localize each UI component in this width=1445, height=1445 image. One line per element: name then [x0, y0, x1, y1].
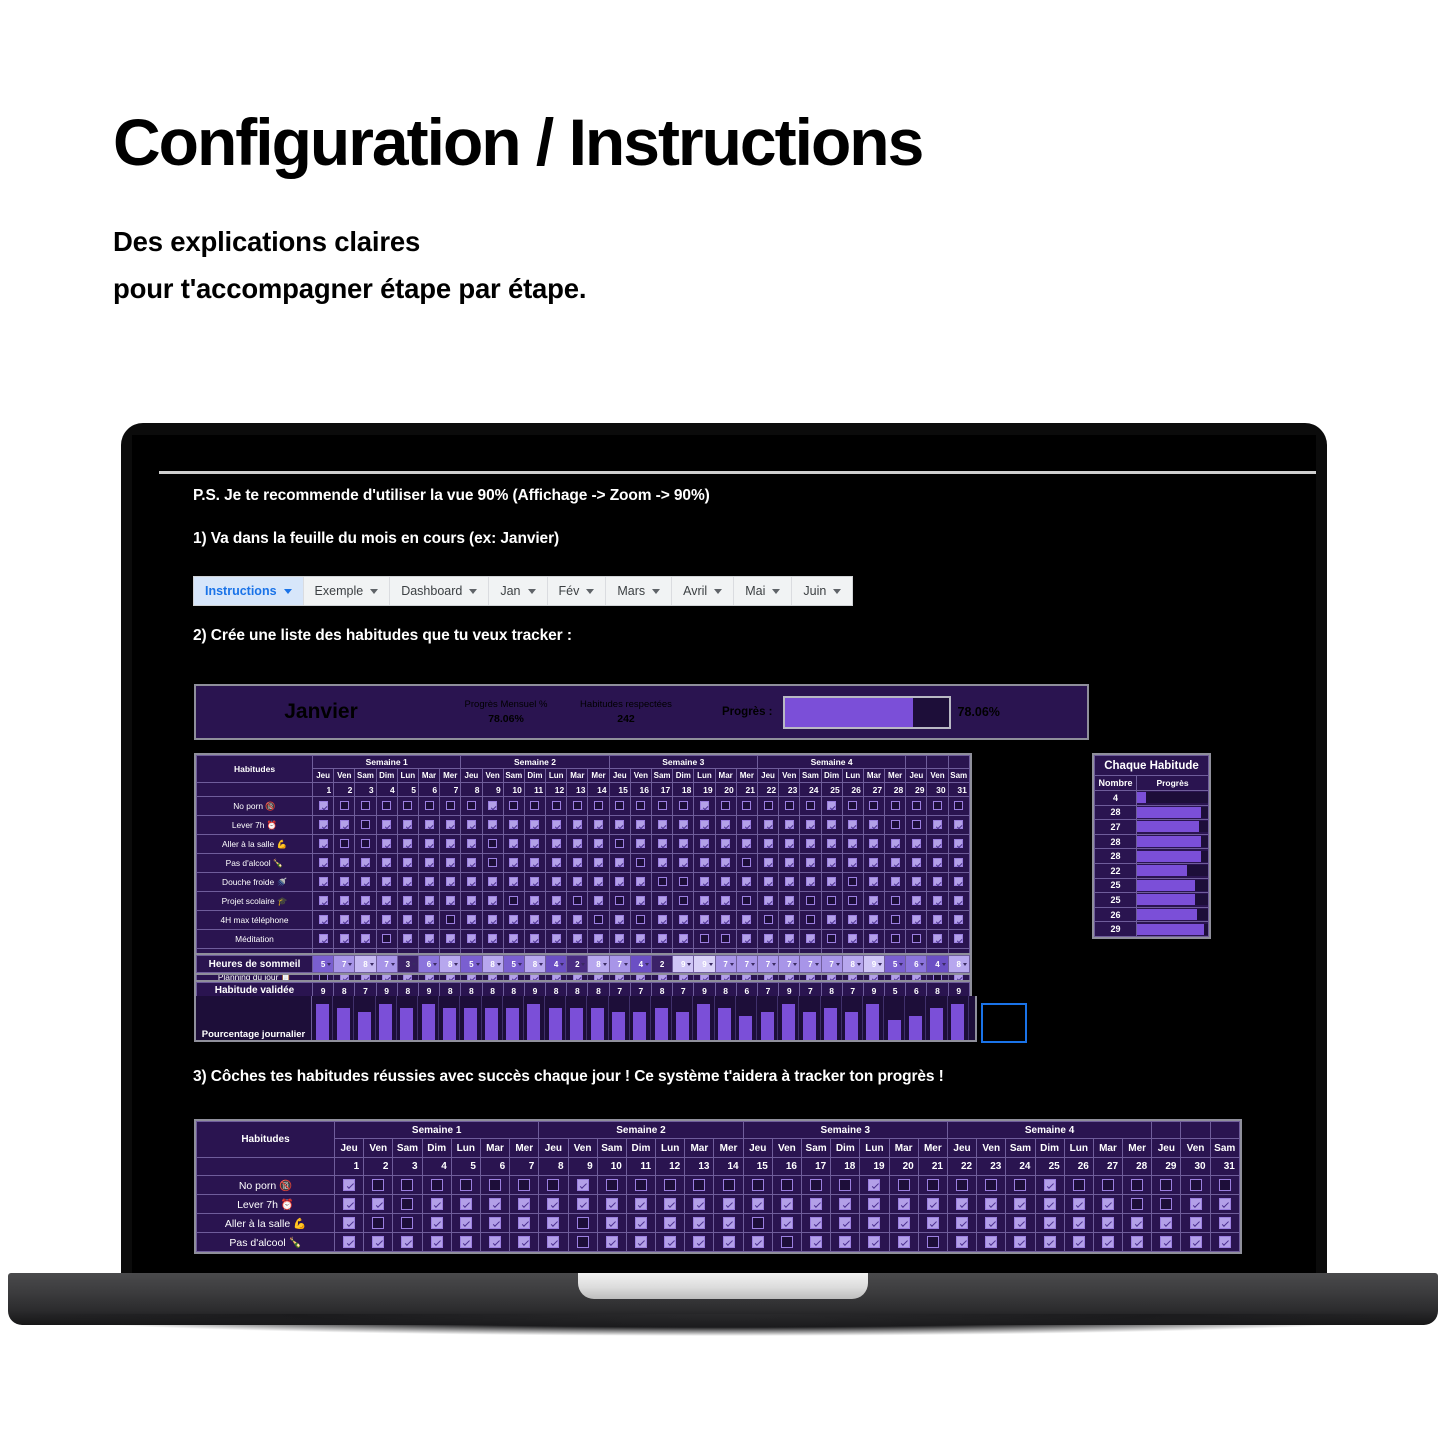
checkbox-icon[interactable]: [891, 858, 900, 867]
habit-cell[interactable]: [567, 911, 588, 930]
checkbox-icon[interactable]: [806, 801, 815, 810]
checkbox-icon[interactable]: [781, 1217, 793, 1229]
habit-cell[interactable]: [597, 1214, 626, 1233]
checkbox-icon[interactable]: [721, 858, 730, 867]
checkbox-icon[interactable]: [891, 877, 900, 886]
habit-cell[interactable]: [568, 1233, 597, 1252]
checkbox-icon[interactable]: [1190, 1217, 1202, 1229]
habit-cell[interactable]: [482, 873, 503, 892]
habit-cell[interactable]: [1006, 1176, 1035, 1195]
checkbox-icon[interactable]: [891, 839, 900, 848]
habit-cell[interactable]: [418, 873, 439, 892]
checkbox-icon[interactable]: [764, 820, 773, 829]
checkbox-icon[interactable]: [1073, 1198, 1085, 1210]
checkbox-icon[interactable]: [785, 801, 794, 810]
habit-cell[interactable]: [1210, 1195, 1239, 1214]
habit-cell[interactable]: [609, 873, 630, 892]
checkbox-icon[interactable]: [509, 801, 518, 810]
checkbox-icon[interactable]: [606, 1236, 618, 1248]
checkbox-icon[interactable]: [848, 801, 857, 810]
checkbox-icon[interactable]: [577, 1198, 589, 1210]
habit-cell[interactable]: [772, 1233, 801, 1252]
habit-cell[interactable]: [821, 892, 842, 911]
habit-cell[interactable]: [1152, 1233, 1181, 1252]
habit-cell[interactable]: [779, 930, 800, 949]
habit-cell[interactable]: [1064, 1233, 1093, 1252]
habit-cell[interactable]: [1210, 1214, 1239, 1233]
checkbox-icon[interactable]: [382, 801, 391, 810]
checkbox-icon[interactable]: [460, 1217, 472, 1229]
checkbox-icon[interactable]: [1219, 1236, 1231, 1248]
habit-cell[interactable]: [927, 873, 948, 892]
habit-cell[interactable]: [842, 854, 863, 873]
chevron-down-icon[interactable]: [751, 963, 755, 966]
habit-cell[interactable]: [597, 1233, 626, 1252]
sleep-hours-dropdown[interactable]: 7: [821, 956, 842, 973]
habit-cell[interactable]: [918, 1195, 947, 1214]
habit-cell[interactable]: [906, 892, 927, 911]
habit-cell[interactable]: [376, 911, 397, 930]
checkbox-icon[interactable]: [635, 1198, 647, 1210]
checkbox-icon[interactable]: [547, 1198, 559, 1210]
checkbox-icon[interactable]: [552, 858, 561, 867]
habit-cell[interactable]: [546, 797, 567, 816]
chevron-down-icon[interactable]: [645, 963, 649, 966]
checkbox-icon[interactable]: [869, 915, 878, 924]
checkbox-icon[interactable]: [530, 896, 539, 905]
checkbox-icon[interactable]: [764, 934, 773, 943]
checkbox-icon[interactable]: [679, 839, 688, 848]
habit-cell[interactable]: [800, 892, 821, 911]
checkbox-icon[interactable]: [1131, 1198, 1143, 1210]
habit-cell[interactable]: [397, 797, 418, 816]
habit-cell[interactable]: [947, 1176, 976, 1195]
sleep-hours-dropdown[interactable]: 7: [736, 956, 757, 973]
habit-cell[interactable]: [977, 1176, 1006, 1195]
habit-cell[interactable]: [334, 854, 355, 873]
habit-cell[interactable]: [863, 797, 884, 816]
habit-cell[interactable]: [451, 1195, 480, 1214]
checkbox-icon[interactable]: [467, 820, 476, 829]
checkbox-icon[interactable]: [933, 820, 942, 829]
checkbox-icon[interactable]: [721, 820, 730, 829]
checkbox-icon[interactable]: [868, 1236, 880, 1248]
checkbox-icon[interactable]: [446, 877, 455, 886]
checkbox-icon[interactable]: [785, 934, 794, 943]
checkbox-icon[interactable]: [912, 934, 921, 943]
habit-cell[interactable]: [376, 835, 397, 854]
habit-cell[interactable]: [779, 873, 800, 892]
checkbox-icon[interactable]: [319, 896, 328, 905]
habit-cell[interactable]: [694, 873, 715, 892]
checkbox-icon[interactable]: [693, 1217, 705, 1229]
habit-cell[interactable]: [800, 816, 821, 835]
checkbox-icon[interactable]: [810, 1236, 822, 1248]
checkbox-icon[interactable]: [933, 915, 942, 924]
habit-cell[interactable]: [313, 835, 334, 854]
chevron-down-icon[interactable]: [687, 963, 691, 966]
habit-cell[interactable]: [889, 1176, 918, 1195]
habit-cell[interactable]: [440, 854, 461, 873]
checkbox-icon[interactable]: [1160, 1236, 1172, 1248]
checkbox-icon[interactable]: [552, 896, 561, 905]
chevron-down-icon[interactable]: [528, 589, 536, 594]
habit-cell[interactable]: [418, 892, 439, 911]
checkbox-icon[interactable]: [898, 1236, 910, 1248]
checkbox-icon[interactable]: [530, 877, 539, 886]
habit-cell[interactable]: [831, 1233, 860, 1252]
habit-cell[interactable]: [313, 892, 334, 911]
checkbox-icon[interactable]: [372, 1179, 384, 1191]
chevron-down-icon[interactable]: [433, 963, 437, 966]
habit-cell[interactable]: [656, 1233, 685, 1252]
checkbox-icon[interactable]: [806, 877, 815, 886]
checkbox-icon[interactable]: [664, 1217, 676, 1229]
habit-cell[interactable]: [1123, 1233, 1152, 1252]
habit-cell[interactable]: [334, 873, 355, 892]
habit-cell[interactable]: [480, 1195, 509, 1214]
habit-cell[interactable]: [546, 892, 567, 911]
checkbox-icon[interactable]: [636, 877, 645, 886]
checkbox-icon[interactable]: [573, 915, 582, 924]
checkbox-icon[interactable]: [742, 896, 751, 905]
habit-cell[interactable]: [567, 854, 588, 873]
habit-cell[interactable]: [821, 835, 842, 854]
habit-cell[interactable]: [597, 1195, 626, 1214]
checkbox-icon[interactable]: [403, 820, 412, 829]
checkbox-icon[interactable]: [319, 820, 328, 829]
checkbox-icon[interactable]: [954, 801, 963, 810]
habit-cell[interactable]: [397, 930, 418, 949]
habit-cell[interactable]: [461, 797, 482, 816]
checkbox-icon[interactable]: [869, 934, 878, 943]
habit-cell[interactable]: [480, 1176, 509, 1195]
habit-cell[interactable]: [503, 892, 524, 911]
checkbox-icon[interactable]: [552, 877, 561, 886]
habit-cell[interactable]: [335, 1195, 364, 1214]
habit-name[interactable]: Pas d'alcool 🍾: [197, 854, 313, 873]
habit-cell[interactable]: [863, 835, 884, 854]
checkbox-icon[interactable]: [742, 858, 751, 867]
habit-cell[interactable]: [800, 854, 821, 873]
checkbox-icon[interactable]: [827, 839, 836, 848]
habit-cell[interactable]: [863, 930, 884, 949]
checkbox-icon[interactable]: [594, 934, 603, 943]
checkbox-icon[interactable]: [425, 934, 434, 943]
checkbox-icon[interactable]: [594, 801, 603, 810]
checkbox-icon[interactable]: [679, 934, 688, 943]
checkbox-icon[interactable]: [509, 858, 518, 867]
checkbox-icon[interactable]: [635, 1179, 647, 1191]
checkbox-icon[interactable]: [489, 1236, 501, 1248]
habit-cell[interactable]: [736, 835, 757, 854]
habit-cell[interactable]: [568, 1195, 597, 1214]
habit-cell[interactable]: [800, 930, 821, 949]
habit-cell[interactable]: [626, 1176, 655, 1195]
habit-cell[interactable]: [842, 797, 863, 816]
checkbox-icon[interactable]: [460, 1236, 472, 1248]
sheet-tab-instructions[interactable]: Instructions: [194, 577, 304, 605]
checkbox-icon[interactable]: [467, 896, 476, 905]
habit-cell[interactable]: [1181, 1214, 1210, 1233]
sleep-hours-dropdown[interactable]: 2: [567, 956, 588, 973]
checkbox-icon[interactable]: [467, 877, 476, 886]
checkbox-icon[interactable]: [573, 896, 582, 905]
checkbox-icon[interactable]: [658, 820, 667, 829]
habit-cell[interactable]: [685, 1176, 714, 1195]
habit-cell[interactable]: [546, 854, 567, 873]
checkbox-icon[interactable]: [810, 1217, 822, 1229]
checkbox-icon[interactable]: [340, 820, 349, 829]
checkbox-icon[interactable]: [547, 1179, 559, 1191]
checkbox-icon[interactable]: [1014, 1198, 1026, 1210]
habit-cell[interactable]: [630, 911, 651, 930]
habit-cell[interactable]: [546, 930, 567, 949]
habit-cell[interactable]: [948, 854, 969, 873]
habit-cell[interactable]: [736, 892, 757, 911]
habit-cell[interactable]: [652, 892, 673, 911]
checkbox-icon[interactable]: [868, 1217, 880, 1229]
habit-cell[interactable]: [652, 930, 673, 949]
checkbox-icon[interactable]: [848, 934, 857, 943]
habit-cell[interactable]: [418, 854, 439, 873]
sleep-hours-dropdown[interactable]: 7: [609, 956, 630, 973]
chevron-down-icon[interactable]: [370, 589, 378, 594]
habit-cell[interactable]: [397, 835, 418, 854]
habit-cell[interactable]: [802, 1214, 831, 1233]
checkbox-icon[interactable]: [361, 877, 370, 886]
habit-cell[interactable]: [906, 930, 927, 949]
checkbox-icon[interactable]: [827, 915, 836, 924]
checkbox-icon[interactable]: [912, 839, 921, 848]
habit-cell[interactable]: [546, 911, 567, 930]
habit-cell[interactable]: [588, 892, 609, 911]
checkbox-icon[interactable]: [343, 1236, 355, 1248]
habit-cell[interactable]: [694, 911, 715, 930]
habit-cell[interactable]: [418, 816, 439, 835]
checkbox-icon[interactable]: [460, 1198, 472, 1210]
habit-cell[interactable]: [842, 873, 863, 892]
habit-cell[interactable]: [948, 930, 969, 949]
habit-cell[interactable]: [927, 892, 948, 911]
habit-cell[interactable]: [947, 1233, 976, 1252]
habit-cell[interactable]: [1181, 1233, 1210, 1252]
checkbox-icon[interactable]: [985, 1179, 997, 1191]
checkbox-icon[interactable]: [431, 1236, 443, 1248]
checkbox-icon[interactable]: [1190, 1198, 1202, 1210]
checkbox-icon[interactable]: [1131, 1179, 1143, 1191]
habit-cell[interactable]: [1035, 1233, 1064, 1252]
checkbox-icon[interactable]: [615, 915, 624, 924]
habit-cell[interactable]: [510, 1195, 539, 1214]
chevron-down-icon[interactable]: [469, 589, 477, 594]
checkbox-icon[interactable]: [954, 839, 963, 848]
sleep-hours-dropdown[interactable]: 4: [927, 956, 948, 973]
habit-cell[interactable]: [821, 911, 842, 930]
sleep-hours-dropdown[interactable]: 6: [418, 956, 439, 973]
chevron-down-icon[interactable]: [624, 963, 628, 966]
checkbox-icon[interactable]: [361, 820, 370, 829]
habit-cell[interactable]: [800, 835, 821, 854]
habit-cell[interactable]: [694, 892, 715, 911]
checkbox-icon[interactable]: [1102, 1198, 1114, 1210]
checkbox-icon[interactable]: [488, 839, 497, 848]
checkbox-icon[interactable]: [340, 858, 349, 867]
habit-cell[interactable]: [673, 854, 694, 873]
checkbox-icon[interactable]: [869, 820, 878, 829]
checkbox-icon[interactable]: [425, 839, 434, 848]
sheet-tab-bar[interactable]: InstructionsExempleDashboardJanFévMarsAv…: [193, 576, 853, 606]
habit-name[interactable]: Pas d'alcool 🍾: [197, 1233, 335, 1252]
habit-name[interactable]: Lever 7h ⏰: [197, 1195, 335, 1214]
habit-cell[interactable]: [948, 797, 969, 816]
checkbox-icon[interactable]: [827, 877, 836, 886]
checkbox-icon[interactable]: [530, 915, 539, 924]
habit-cell[interactable]: [1210, 1176, 1239, 1195]
checkbox-icon[interactable]: [509, 877, 518, 886]
habit-cell[interactable]: [567, 930, 588, 949]
checkbox-icon[interactable]: [488, 915, 497, 924]
chevron-down-icon[interactable]: [836, 963, 840, 966]
habit-cell[interactable]: [927, 911, 948, 930]
sheet-tab-mai[interactable]: Mai: [734, 577, 792, 605]
habit-cell[interactable]: [630, 892, 651, 911]
habit-cell[interactable]: [736, 930, 757, 949]
checkbox-icon[interactable]: [509, 839, 518, 848]
checkbox-icon[interactable]: [636, 934, 645, 943]
habit-cell[interactable]: [779, 892, 800, 911]
checkbox-icon[interactable]: [319, 915, 328, 924]
chevron-down-icon[interactable]: [833, 589, 841, 594]
habit-cell[interactable]: [567, 835, 588, 854]
habit-cell[interactable]: [779, 911, 800, 930]
checkbox-icon[interactable]: [679, 801, 688, 810]
habit-cell[interactable]: [715, 930, 736, 949]
chevron-down-icon[interactable]: [454, 963, 458, 966]
checkbox-icon[interactable]: [781, 1179, 793, 1191]
chevron-down-icon[interactable]: [370, 963, 374, 966]
habit-cell[interactable]: [821, 854, 842, 873]
checkbox-icon[interactable]: [340, 839, 349, 848]
habit-cell[interactable]: [889, 1195, 918, 1214]
habit-cell[interactable]: [842, 835, 863, 854]
sheet-tab-juin[interactable]: Juin: [792, 577, 852, 605]
habit-cell[interactable]: [524, 911, 545, 930]
habit-cell[interactable]: [397, 816, 418, 835]
habit-cell[interactable]: [694, 797, 715, 816]
habit-cell[interactable]: [588, 930, 609, 949]
checkbox-icon[interactable]: [806, 896, 815, 905]
checkbox-icon[interactable]: [446, 839, 455, 848]
checkbox-icon[interactable]: [552, 801, 561, 810]
habit-cell[interactable]: [451, 1214, 480, 1233]
habit-cell[interactable]: [1123, 1195, 1152, 1214]
habit-cell[interactable]: [440, 911, 461, 930]
checkbox-icon[interactable]: [869, 858, 878, 867]
chevron-down-icon[interactable]: [714, 589, 722, 594]
checkbox-icon[interactable]: [403, 801, 412, 810]
checkbox-icon[interactable]: [752, 1179, 764, 1191]
habit-cell[interactable]: [480, 1214, 509, 1233]
habit-cell[interactable]: [802, 1176, 831, 1195]
checkbox-icon[interactable]: [467, 934, 476, 943]
sleep-hours-dropdown[interactable]: 6: [906, 956, 927, 973]
checkbox-icon[interactable]: [912, 915, 921, 924]
habit-cell[interactable]: [503, 854, 524, 873]
chevron-down-icon[interactable]: [476, 963, 480, 966]
habit-cell[interactable]: [885, 854, 906, 873]
checkbox-icon[interactable]: [898, 1179, 910, 1191]
checkbox-icon[interactable]: [869, 801, 878, 810]
habit-cell[interactable]: [821, 816, 842, 835]
habit-cell[interactable]: [313, 911, 334, 930]
habit-cell[interactable]: [626, 1233, 655, 1252]
checkbox-icon[interactable]: [488, 934, 497, 943]
checkbox-icon[interactable]: [431, 1179, 443, 1191]
habit-name[interactable]: Projet scolaire 🎓: [197, 892, 313, 911]
checkbox-icon[interactable]: [664, 1198, 676, 1210]
checkbox-icon[interactable]: [615, 877, 624, 886]
checkbox-icon[interactable]: [488, 896, 497, 905]
checkbox-icon[interactable]: [742, 915, 751, 924]
checkbox-icon[interactable]: [1160, 1179, 1172, 1191]
checkbox-icon[interactable]: [658, 915, 667, 924]
checkbox-icon[interactable]: [488, 858, 497, 867]
habit-cell[interactable]: [743, 1195, 772, 1214]
checkbox-icon[interactable]: [615, 896, 624, 905]
checkbox-icon[interactable]: [1131, 1236, 1143, 1248]
habit-cell[interactable]: [821, 873, 842, 892]
checkbox-icon[interactable]: [927, 1179, 939, 1191]
habit-cell[interactable]: [524, 930, 545, 949]
habit-cell[interactable]: [673, 816, 694, 835]
habit-cell[interactable]: [842, 892, 863, 911]
checkbox-icon[interactable]: [594, 820, 603, 829]
checkbox-icon[interactable]: [742, 877, 751, 886]
habit-cell[interactable]: [524, 892, 545, 911]
checkbox-icon[interactable]: [425, 915, 434, 924]
checkbox-icon[interactable]: [1190, 1236, 1202, 1248]
checkbox-icon[interactable]: [1219, 1198, 1231, 1210]
habit-cell[interactable]: [800, 911, 821, 930]
habit-cell[interactable]: [630, 854, 651, 873]
habit-cell[interactable]: [609, 854, 630, 873]
sleep-hours-row[interactable]: Heures de sommeil57873685858428742997777…: [194, 953, 972, 975]
habit-cell[interactable]: [422, 1176, 451, 1195]
checkbox-icon[interactable]: [361, 915, 370, 924]
checkbox-icon[interactable]: [693, 1198, 705, 1210]
checkbox-icon[interactable]: [664, 1179, 676, 1191]
checkbox-icon[interactable]: [742, 820, 751, 829]
habit-cell[interactable]: [927, 930, 948, 949]
checkbox-icon[interactable]: [933, 801, 942, 810]
checkbox-icon[interactable]: [401, 1179, 413, 1191]
checkbox-icon[interactable]: [382, 877, 391, 886]
checkbox-icon[interactable]: [839, 1217, 851, 1229]
checkbox-icon[interactable]: [509, 820, 518, 829]
habit-cell[interactable]: [461, 930, 482, 949]
checkbox-icon[interactable]: [547, 1217, 559, 1229]
habit-cell[interactable]: [1093, 1195, 1122, 1214]
habit-cell[interactable]: [906, 911, 927, 930]
sheet-tab-exemple[interactable]: Exemple: [304, 577, 391, 605]
habit-cell[interactable]: [757, 835, 778, 854]
habit-cell[interactable]: [673, 835, 694, 854]
habit-cell[interactable]: [546, 816, 567, 835]
checkbox-icon[interactable]: [891, 934, 900, 943]
checkbox-icon[interactable]: [956, 1217, 968, 1229]
habit-cell[interactable]: [609, 930, 630, 949]
